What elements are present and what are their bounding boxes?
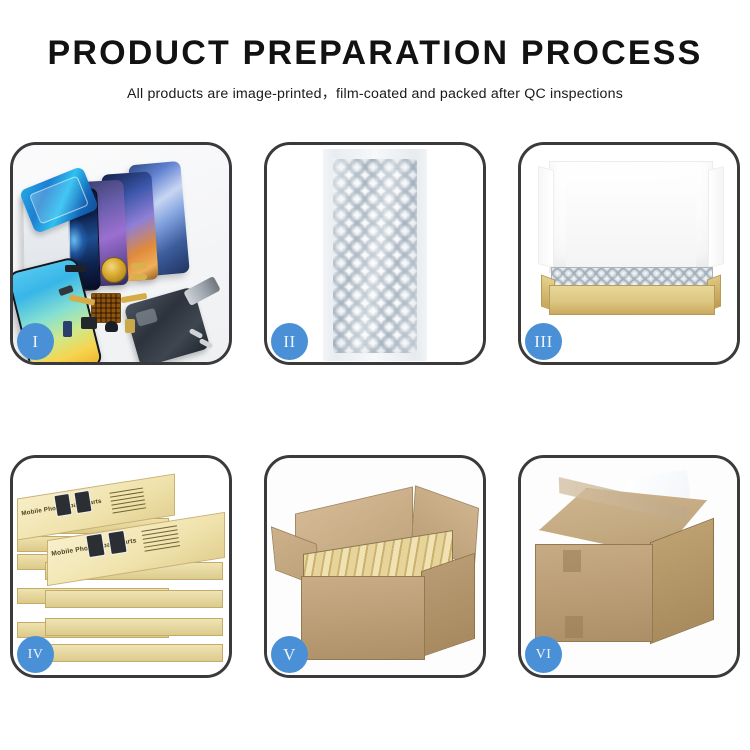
step-panel-i[interactable]: I <box>10 142 232 365</box>
box-print-phone-icon <box>85 533 105 558</box>
bubble-wrap-icon <box>333 159 417 353</box>
step-panel-iii[interactable]: III <box>518 142 740 365</box>
box-print-phone-icon <box>53 493 72 517</box>
box-print-phone-icon <box>107 530 127 555</box>
stacked-box-edge <box>45 644 223 662</box>
stacked-box-edge <box>45 618 223 636</box>
carton-front-face <box>535 544 653 642</box>
page-title: PRODUCT PREPARATION PROCESS <box>0 0 750 72</box>
steps-row-top: I II <box>10 142 740 365</box>
carton-front-face <box>301 576 425 660</box>
spare-part-icon <box>131 263 147 269</box>
camera-module-icon <box>105 321 118 332</box>
steps-row-bottom: Mobile Phone Spare Parts Mobile Phone Sp… <box>10 455 740 678</box>
header: PRODUCT PREPARATION PROCESS All products… <box>0 0 750 103</box>
step-panel-ii[interactable]: II <box>264 142 486 365</box>
page-subtitle: All products are image-printed，film-coat… <box>0 72 750 103</box>
box-lid-inner <box>566 182 696 268</box>
step-badge-iii: III <box>525 323 562 360</box>
step-badge-iv: IV <box>17 636 54 673</box>
steps-grid: I II <box>10 142 740 678</box>
step-badge-i: I <box>17 323 54 360</box>
step-badge-ii: II <box>271 323 308 360</box>
carton-side-face <box>421 553 475 658</box>
spare-part-icon <box>81 317 97 329</box>
carton-flap-seam <box>563 550 581 572</box>
battery-icon <box>63 321 72 337</box>
step-panel-v[interactable]: V <box>264 455 486 678</box>
spare-part-icon <box>131 274 147 280</box>
spare-part-icon <box>65 265 87 272</box>
carton-flap-seam <box>565 616 583 638</box>
coil-component-icon <box>101 257 127 283</box>
product-preparation-infographic: PRODUCT PREPARATION PROCESS All products… <box>0 0 750 750</box>
step-panel-vi[interactable]: VI <box>518 455 740 678</box>
stacked-box-edge <box>45 590 223 608</box>
box-tray-icon <box>541 267 721 313</box>
box-lid-icon <box>549 161 713 273</box>
step-badge-vi: VI <box>525 636 562 673</box>
step-badge-v: V <box>271 636 308 673</box>
step-panel-iv[interactable]: Mobile Phone Spare Parts Mobile Phone Sp… <box>10 455 232 678</box>
repair-tool-icon <box>183 276 221 306</box>
box-tray-front-face <box>549 285 715 315</box>
box-print-phone-icon <box>73 490 92 514</box>
spare-part-icon <box>125 319 135 333</box>
